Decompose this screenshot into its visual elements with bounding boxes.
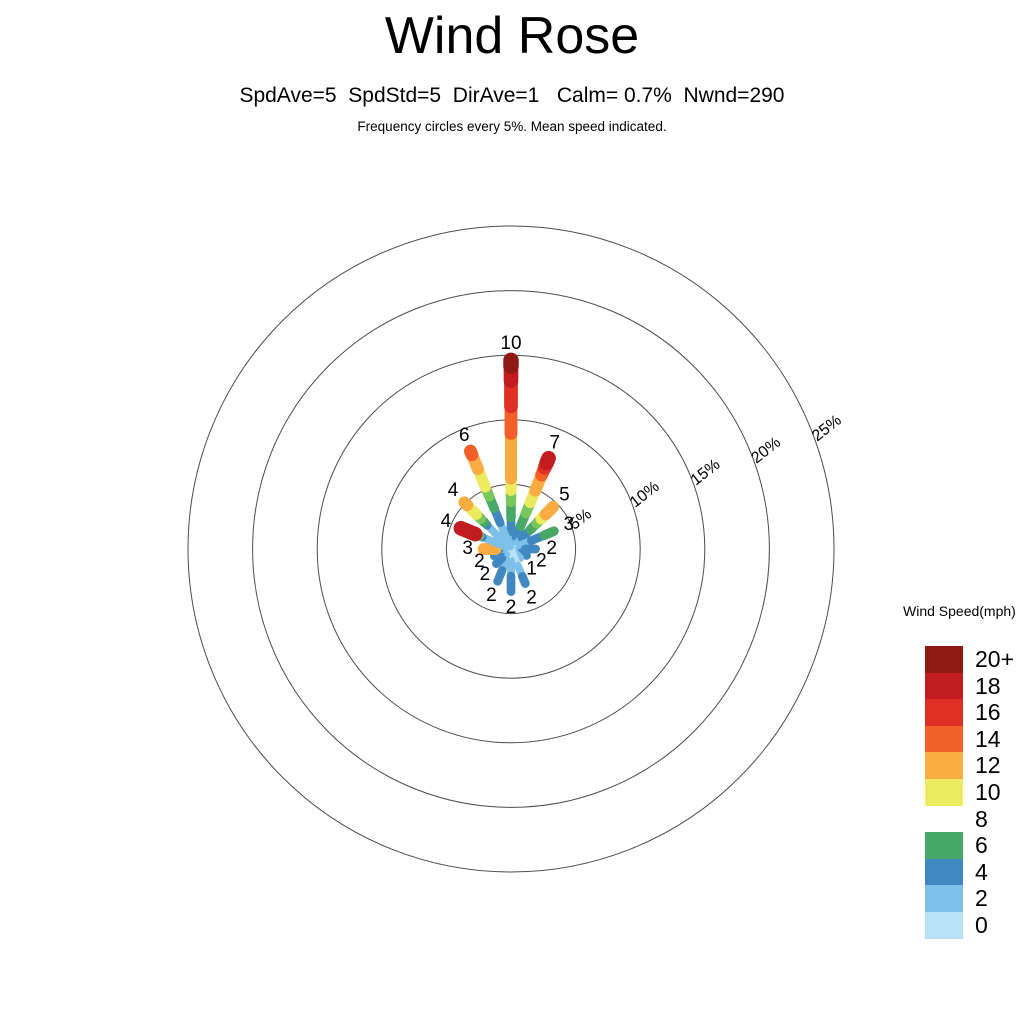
legend-row: 10	[925, 779, 1024, 806]
legend-label: 2	[975, 885, 1024, 912]
legend-swatch	[925, 779, 963, 806]
legend-swatch	[925, 832, 963, 859]
mean-speed-label-N: 10	[500, 333, 521, 354]
mean-speed-label-WNW: 4	[441, 511, 452, 532]
mean-speed-label-WSW: 2	[474, 551, 485, 572]
legend-label: 0	[975, 912, 1024, 939]
mean-speed-label-ENE: 3	[564, 514, 575, 535]
mean-speed-label-S: 2	[506, 597, 517, 618]
ring-labels: 5%10%15%20%25%	[566, 412, 845, 534]
legend-label: 6	[975, 832, 1024, 859]
legend-label: 18	[975, 673, 1024, 700]
legend-label: 12	[975, 752, 1024, 779]
legend-swatch	[925, 726, 963, 753]
legend-row: 0	[925, 912, 1024, 939]
wind-rose-figure: Wind Rose SpdAve=5 SpdStd=5 DirAve=1 Cal…	[0, 0, 1024, 1024]
legend-label: 4	[975, 859, 1024, 886]
ring-label-25pct: 25%	[809, 412, 845, 445]
legend-row: 12	[925, 752, 1024, 779]
petal-segment-NW-12	[464, 502, 467, 505]
petal-segment-ENE-6	[544, 531, 554, 535]
ring-label-20pct: 20%	[748, 434, 784, 467]
legend-row: 16	[925, 699, 1024, 726]
legend-row: 2	[925, 885, 1024, 912]
legend-row: 14	[925, 726, 1024, 753]
legend-swatch	[925, 699, 963, 726]
mean-speed-label-ESE: 2	[536, 551, 547, 572]
petal-segment-NNE-18	[547, 458, 549, 463]
legend-swatch	[925, 859, 963, 886]
legend-title: Wind Speed(mph)	[903, 603, 1016, 619]
legend-row: 4	[925, 859, 1024, 886]
mean-speed-label-NNE: 7	[549, 432, 560, 453]
legend-swatch	[925, 752, 963, 779]
mean-speed-label-SSE: 2	[526, 588, 537, 609]
wind-speed-legend: 20+181614121086420	[925, 646, 1024, 939]
wind-rose-plot: 5%10%15%20%25% 10753221222223446	[0, 0, 1024, 1024]
legend-label: 8	[975, 806, 1024, 833]
legend-swatch	[925, 912, 963, 939]
legend-label: 14	[975, 726, 1024, 753]
mean-speed-label-SSW: 2	[486, 585, 497, 606]
ring-label-15pct: 15%	[688, 456, 724, 489]
mean-speed-label-NW: 4	[448, 480, 459, 501]
legend-swatch	[925, 806, 963, 833]
legend-row: 20+	[925, 646, 1024, 673]
legend-swatch	[925, 885, 963, 912]
mean-speed-label-E: 2	[546, 538, 557, 559]
legend-row: 18	[925, 673, 1024, 700]
mean-speed-label-NE: 5	[559, 485, 570, 506]
petal-segment-NE-12	[546, 507, 553, 514]
petal-segment-NNW-14	[470, 451, 471, 455]
legend-label: 10	[975, 779, 1024, 806]
mean-speed-label-NNW: 6	[459, 425, 470, 446]
legend-row: 8	[925, 806, 1024, 833]
petal-segment-SSE-4	[522, 576, 525, 583]
ring-label-10pct: 10%	[627, 478, 663, 511]
legend-swatch	[925, 673, 963, 700]
legend-label: 20+	[975, 646, 1024, 673]
petal-segment-WNW-18	[461, 528, 475, 534]
legend-label: 16	[975, 699, 1024, 726]
legend-swatch	[925, 646, 963, 673]
petal-segment-SSW-4	[498, 570, 502, 581]
mean-speed-label-W: 3	[462, 538, 473, 559]
mean-speed-label-SE: 1	[526, 559, 537, 580]
legend-row: 6	[925, 832, 1024, 859]
